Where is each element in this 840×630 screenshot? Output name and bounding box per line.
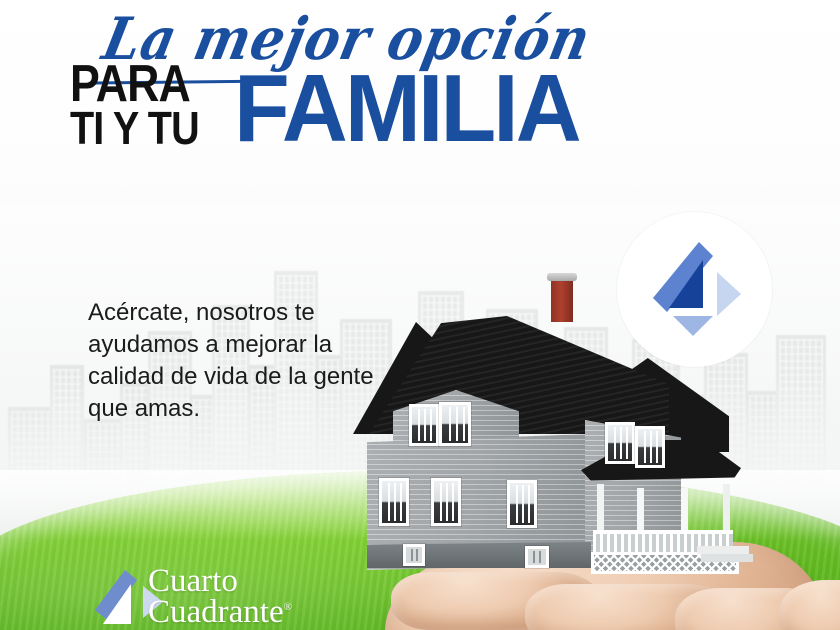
body-copy: Acércate, nosotros te ayudamos a mejorar… bbox=[88, 297, 388, 425]
foundation-vent bbox=[525, 546, 549, 568]
window bbox=[507, 480, 537, 528]
brand-badge bbox=[617, 212, 772, 367]
window bbox=[409, 404, 439, 446]
headline-para: PARA bbox=[70, 62, 199, 107]
window bbox=[605, 422, 635, 464]
window bbox=[439, 402, 471, 446]
chimney bbox=[551, 278, 573, 322]
headline-block: La mejor opción PARA TI Y TU FAMILIA bbox=[70, 14, 710, 148]
foundation-vent bbox=[403, 544, 425, 566]
headline-familia: FAMILIA bbox=[234, 70, 579, 149]
window bbox=[431, 478, 461, 526]
brand-name-line1: Cuarto bbox=[148, 566, 292, 597]
window bbox=[635, 426, 665, 468]
trademark-symbol: ® bbox=[284, 601, 292, 613]
window bbox=[379, 478, 409, 526]
advertisement-canvas: La mejor opción PARA TI Y TU FAMILIA Acé… bbox=[0, 0, 840, 630]
cuarto-cuadrante-four-logo bbox=[643, 238, 747, 342]
brand-name-line2: Cuadrante bbox=[148, 594, 284, 630]
footer-brand-name: Cuarto Cuadrante® bbox=[148, 566, 292, 628]
headline-tiytu: TI Y TU bbox=[70, 109, 199, 149]
